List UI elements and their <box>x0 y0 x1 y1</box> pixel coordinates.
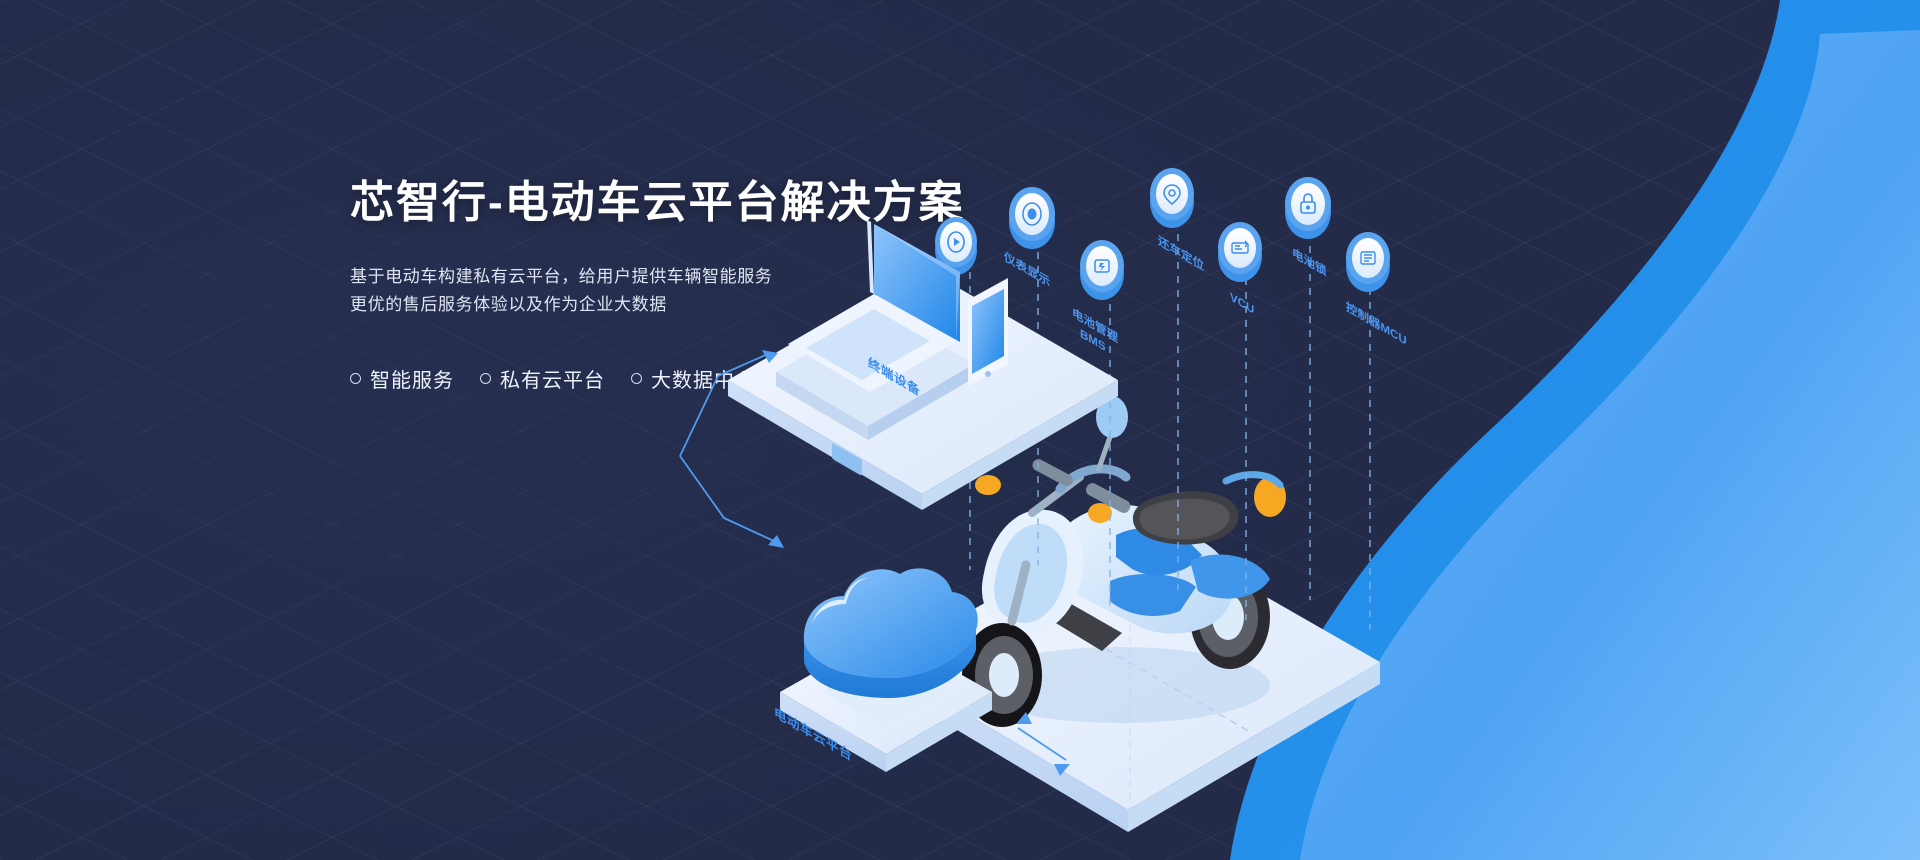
badge-label: 控制器MCU <box>1346 299 1407 348</box>
badge-battery-management[interactable]: 电池管理 BMS <box>1072 240 1124 362</box>
circle-outline-icon <box>631 373 642 384</box>
hero-banner: 芯智行-电动车云平台解决方案 基于电动车构建私有云平台，给用户提供车辆智能服务 … <box>0 0 1920 860</box>
cloud-icon <box>804 568 978 698</box>
badge-vcu[interactable]: VCU <box>1218 222 1262 317</box>
terminal-platform <box>728 220 1118 510</box>
circle-outline-icon <box>350 373 361 384</box>
cloud-platform <box>780 568 992 772</box>
isometric-illustration: 智能电动车 <box>780 170 1600 820</box>
badge-label: 还车定位 <box>1157 232 1204 273</box>
circle-outline-icon <box>480 373 491 384</box>
badge-dashboard-display[interactable]: 仪表显示 <box>1003 187 1055 289</box>
feature-label: 智能服务 <box>370 364 454 393</box>
feature-label: 私有云平台 <box>500 364 605 393</box>
badge-controller-mcu[interactable]: 控制器MCU <box>1346 232 1407 348</box>
badge-return-location[interactable]: 还车定位 <box>1150 168 1204 274</box>
badge-label: VCU <box>1230 290 1254 317</box>
feature-item-private-cloud[interactable]: 私有云平台 <box>480 364 605 393</box>
badge-battery-lock[interactable]: 电池锁 <box>1285 177 1331 279</box>
feature-item-smart-service[interactable]: 智能服务 <box>350 364 454 393</box>
badge-label: 仪表显示 <box>1003 248 1050 289</box>
